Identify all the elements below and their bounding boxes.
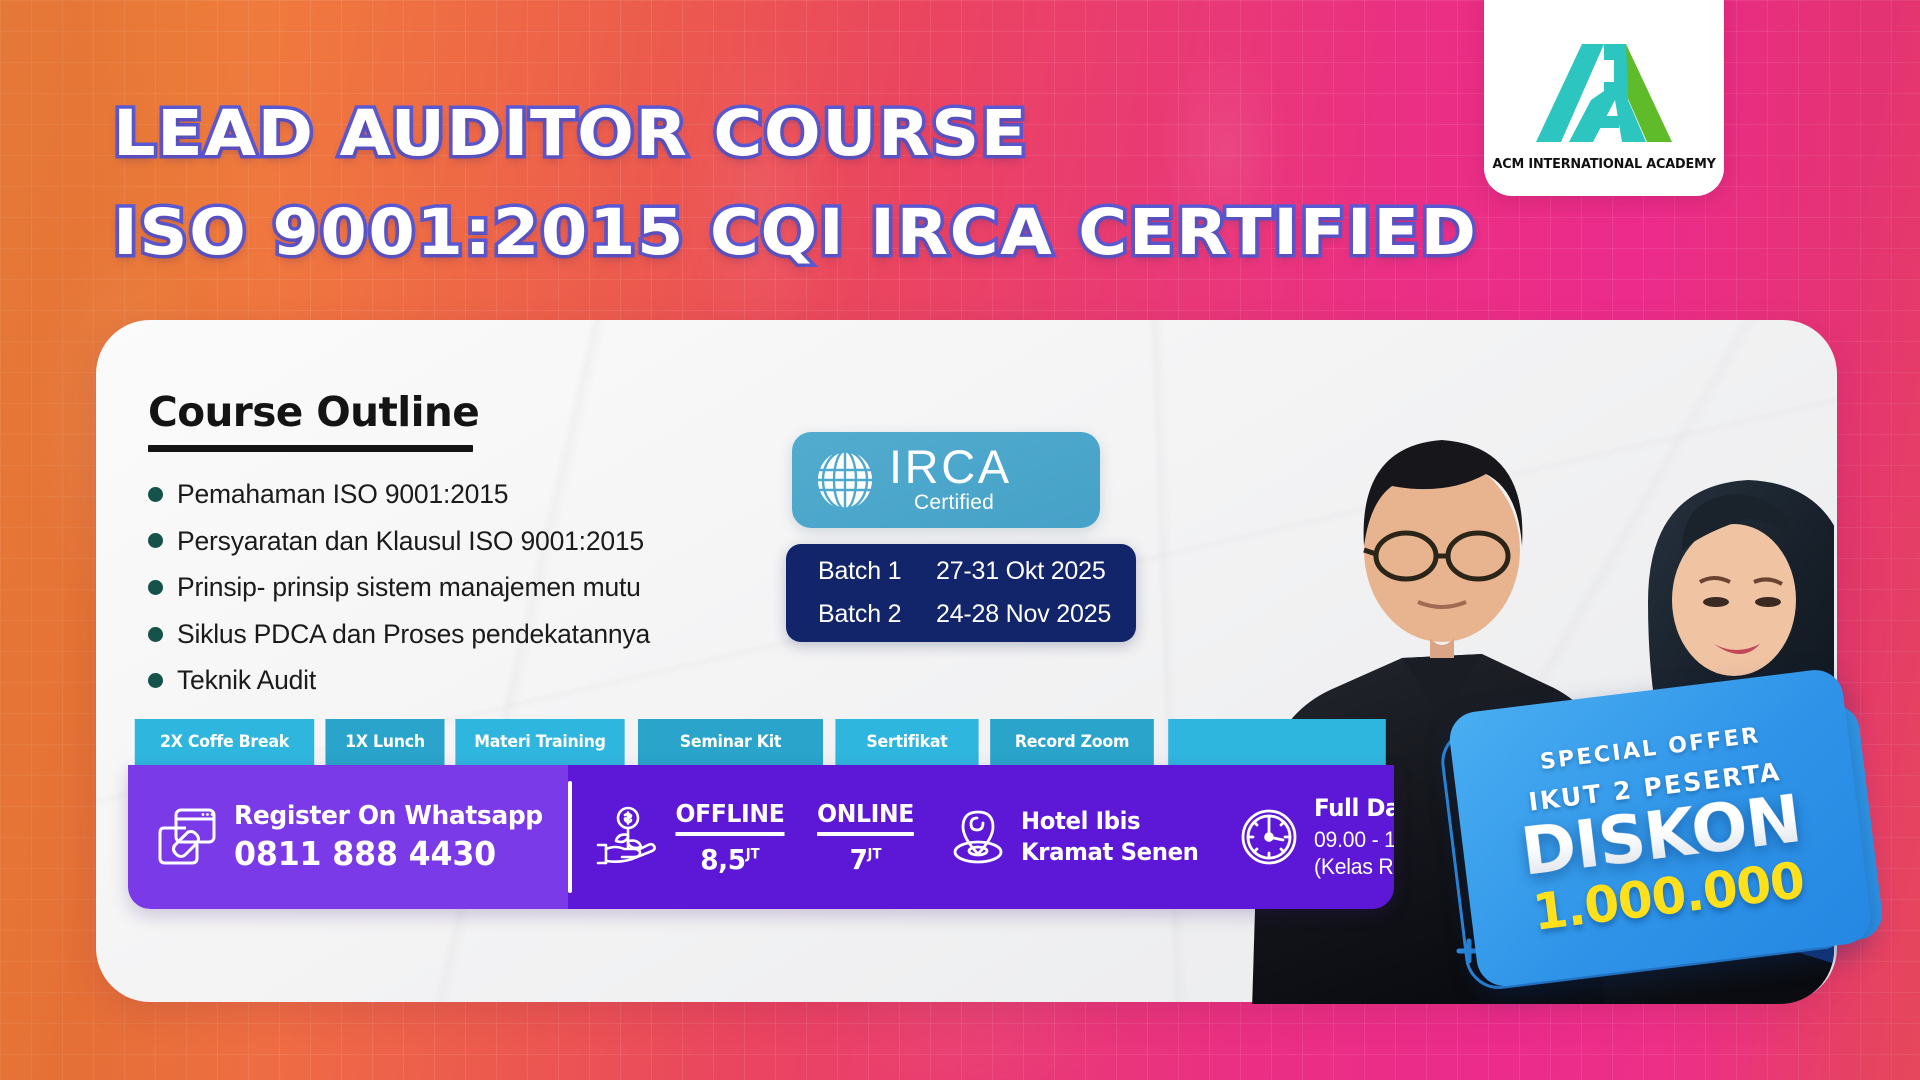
batch-dates: 27-31 Okt 2025	[936, 550, 1106, 593]
registration-bar: Register On Whatsapp 0811 888 4430	[128, 765, 1394, 909]
bullet-icon	[148, 627, 163, 642]
feature-item-materi-training: Materi Training	[455, 719, 624, 765]
price-mode-label: ONLINE	[817, 799, 914, 836]
feature-item-seminar-kit: Seminar Kit	[638, 719, 823, 765]
price-mode-label: OFFLINE	[675, 799, 784, 836]
badge-front-card: SPECIAL OFFER IKUT 2 PESERTA DISKON 1.00…	[1447, 667, 1874, 989]
venue-line-1: Hotel Ibis	[1021, 806, 1199, 837]
brand-logo-card: ACM INTERNATIONAL ACADEMY	[1484, 0, 1724, 196]
list-item-label: Persyaratan dan Klausul ISO 9001:2015	[177, 527, 644, 556]
batch-schedule-box: Batch 1 27-31 Okt 2025 Batch 2 24-28 Nov…	[786, 544, 1136, 642]
schedule-text: Full Day 5 hari 09.00 - 16.00 (Kelas Reg…	[1314, 794, 1394, 880]
price-group: OFFLINE 8,5JT ONLINE 7JT	[672, 799, 917, 876]
clock-icon	[1238, 806, 1300, 868]
globe-icon	[814, 449, 876, 511]
feature-item-lunch: 1X Lunch	[325, 719, 444, 765]
course-outline-list: Pemahaman ISO 9001:2015 Persyaratan dan …	[148, 480, 650, 695]
list-item: Persyaratan dan Klausul ISO 9001:2015	[148, 527, 650, 556]
course-info-panel: OFFLINE 8,5JT ONLINE 7JT Hotel Ibis	[568, 765, 1394, 909]
title-line-2: ISO 9001:2015 CQI IRCA CERTIFIED	[113, 183, 1478, 282]
course-outline-section: Course Outline Pemahaman ISO 9001:2015 P…	[148, 388, 650, 713]
logo-wordmark: ACM INTERNATIONAL ACADEMY	[1492, 157, 1715, 172]
course-outline-heading: Course Outline	[148, 388, 645, 436]
heading-underline	[148, 445, 473, 452]
bullet-icon	[148, 487, 163, 502]
feature-filler	[1168, 719, 1386, 765]
feature-item-coffee-break: 2X Coffe Break	[135, 719, 314, 765]
list-item: Prinsip- prinsip sistem manajemen mutu	[148, 573, 650, 602]
course-duration: Full Day 5 hari	[1314, 794, 1394, 824]
batch-label: Batch 2	[818, 593, 936, 636]
panel-divider	[568, 781, 572, 893]
price-amount: 7JT	[817, 843, 914, 876]
money-plant-hand-icon	[594, 805, 658, 869]
phone-number[interactable]: 0811 888 4430	[234, 834, 543, 873]
course-time: 09.00 - 16.00	[1314, 826, 1394, 853]
list-item: Pemahaman ISO 9001:2015	[148, 480, 650, 509]
batch-row: Batch 2 24-28 Nov 2025	[818, 593, 1104, 636]
promo-banner: LEAD AUDITOR COURSE ISO 9001:2015 CQI IR…	[0, 0, 1920, 1080]
feature-item-record-zoom: Record Zoom	[990, 719, 1154, 765]
bullet-icon	[148, 533, 163, 548]
register-label: Register On Whatsapp	[234, 801, 543, 831]
batch-dates: 24-28 Nov 2025	[936, 593, 1111, 636]
features-bar: 2X Coffe Break 1X Lunch Materi Training …	[128, 719, 1394, 765]
map-pin-icon	[947, 806, 1009, 868]
banner-title: LEAD AUDITOR COURSE ISO 9001:2015 CQI IR…	[113, 84, 1400, 282]
list-item: Teknik Audit	[148, 666, 650, 695]
list-item-label: Siklus PDCA dan Proses pendekatannya	[177, 620, 650, 649]
acm-logo-icon	[1529, 38, 1679, 148]
title-line-1: LEAD AUDITOR COURSE	[113, 84, 1478, 183]
special-offer-badge: SPECIAL OFFER IKUT 2 PESERTA DISKON 1.00…	[1430, 690, 1900, 1020]
batch-row: Batch 1 27-31 Okt 2025	[818, 550, 1104, 593]
bullet-icon	[148, 673, 163, 688]
irca-text-group: IRCA Certified	[889, 445, 1012, 514]
batch-label: Batch 1	[818, 550, 936, 593]
venue-line-2: Kramat Senen	[1021, 837, 1199, 868]
feature-item-sertifikat: Sertifikat	[835, 719, 978, 765]
list-item-label: Prinsip- prinsip sistem manajemen mutu	[177, 573, 641, 602]
link-window-icon	[156, 806, 218, 868]
list-item-label: Pemahaman ISO 9001:2015	[177, 480, 508, 509]
whatsapp-text-group: Register On Whatsapp 0811 888 4430	[234, 801, 556, 873]
irca-subtitle: Certified	[914, 491, 1012, 515]
list-item: Siklus PDCA dan Proses pendekatannya	[148, 620, 650, 649]
venue-text: Hotel Ibis Kramat Senen	[1021, 806, 1199, 867]
bullet-icon	[148, 580, 163, 595]
price-online: ONLINE 7JT	[814, 799, 917, 876]
irca-certified-badge: IRCA Certified	[792, 432, 1100, 528]
list-item-label: Teknik Audit	[177, 666, 316, 695]
price-offline: OFFLINE 8,5JT	[672, 799, 788, 876]
whatsapp-register-panel[interactable]: Register On Whatsapp 0811 888 4430	[128, 765, 568, 909]
class-type-note: (Kelas Reguler)	[1314, 853, 1394, 880]
price-amount: 8,5JT	[675, 843, 784, 876]
irca-name: IRCA	[889, 445, 1012, 489]
